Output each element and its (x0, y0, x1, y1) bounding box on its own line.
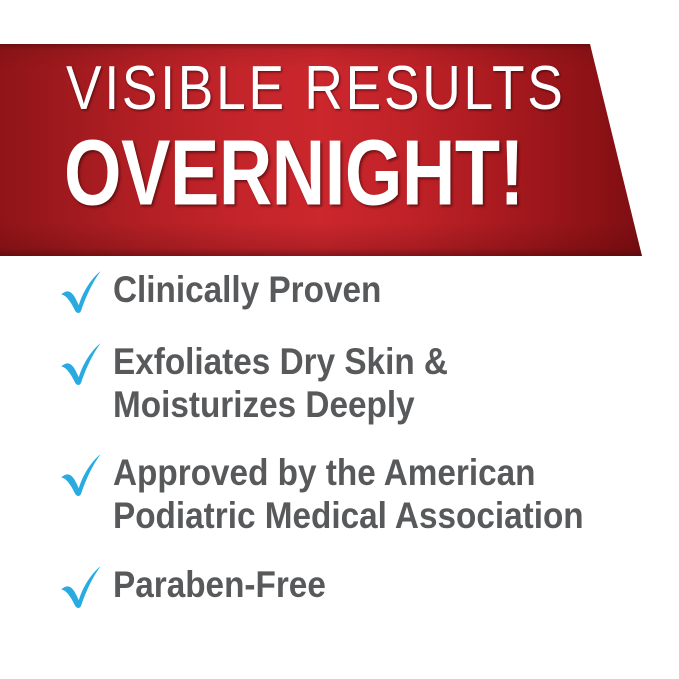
list-item-label: Exfoliates Dry Skin & Moisturizes Deeply (113, 340, 622, 426)
checkmark-icon (57, 342, 105, 388)
benefits-list: Clinically Proven Exfoliates Dry Skin & … (0, 268, 679, 611)
list-item-label: Clinically Proven (113, 268, 622, 311)
checkmark-icon (57, 453, 105, 499)
list-item-label: Paraben-Free (113, 563, 622, 606)
headline-banner (0, 44, 642, 256)
list-item: Paraben-Free (0, 563, 679, 611)
product-claims-panel: VISIBLE RESULTS OVERNIGHT! Clinically Pr… (0, 0, 679, 679)
list-item: Clinically Proven (0, 268, 679, 316)
list-item-label: Approved by the American Podiatric Medic… (113, 451, 622, 537)
list-item: Exfoliates Dry Skin & Moisturizes Deeply (0, 340, 679, 426)
list-item: Approved by the American Podiatric Medic… (0, 451, 679, 537)
checkmark-icon (57, 270, 105, 316)
checkmark-icon (57, 565, 105, 611)
